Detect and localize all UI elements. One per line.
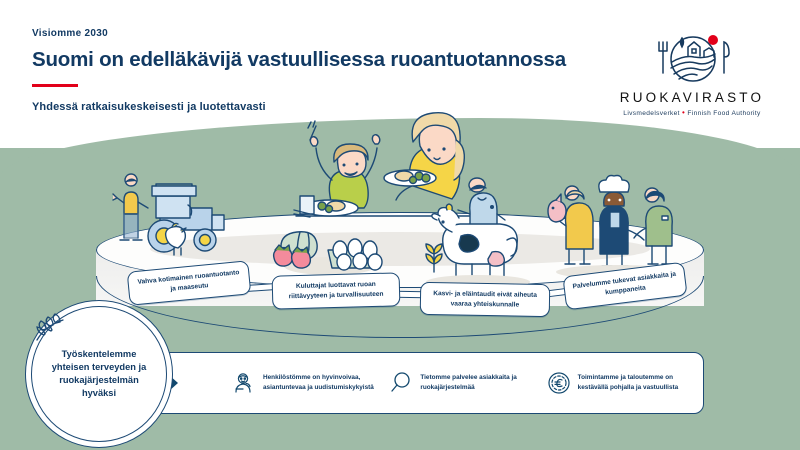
logo-wordmark: RUOKAVIRASTO bbox=[612, 90, 772, 105]
bottom-item-1[interactable]: Henkilöstömme on hyvinvoivaa, asiantunte… bbox=[232, 371, 389, 395]
logo-subtitle: Livsmedelsverket • Finnish Food Authorit… bbox=[612, 108, 772, 117]
bottom-items-row: Henkilöstömme on hyvinvoivaa, asiantunte… bbox=[120, 352, 704, 414]
platform-shadow bbox=[150, 232, 650, 266]
callout-label-1: Vahva kotimainen ruoantuotanto ja maaseu… bbox=[135, 268, 242, 297]
bottom-item-2[interactable]: Tietomme palvelee asiakkaita ja ruokajär… bbox=[389, 371, 546, 395]
wheat-icon bbox=[25, 300, 77, 344]
logo-separator-dot: • bbox=[682, 108, 685, 117]
eyebrow-label: Visiomme 2030 bbox=[32, 28, 572, 39]
page-title: Suomi on edelläkävijä vastuullisessa ruo… bbox=[32, 47, 572, 72]
callout-box-3[interactable]: Kasvi- ja eläintaudit eivät aiheuta vaar… bbox=[420, 282, 551, 317]
mission-circle-label: Työskentelemme yhteisen terveyden ja ruo… bbox=[32, 348, 166, 401]
bottom-item-label-3: Toimintamme ja taloutemme on kestävällä … bbox=[578, 373, 704, 392]
title-divider bbox=[32, 84, 78, 87]
callout-label-2: Kuluttajat luottavat ruoan riittävyyteen… bbox=[280, 280, 392, 302]
person-icon bbox=[232, 371, 256, 395]
callout-box-2[interactable]: Kuluttajat luottavat ruoan riittävyyteen… bbox=[272, 272, 401, 309]
logo-subtitle-right: Finnish Food Authority bbox=[687, 110, 760, 117]
bottom-item-3[interactable]: Toimintamme ja taloutemme on kestävällä … bbox=[547, 371, 704, 395]
callout-label-4: Palvelumme tukevat asiakkaita ja kumppan… bbox=[571, 270, 679, 302]
euro-icon bbox=[547, 371, 571, 395]
bottom-item-label-1: Henkilöstömme on hyvinvoivaa, asiantunte… bbox=[263, 373, 389, 392]
bottom-item-label-2: Tietomme palvelee asiakkaita ja ruokajär… bbox=[420, 373, 546, 392]
magnifier-icon bbox=[389, 371, 413, 395]
callout-label-3: Kasvi- ja eläintaudit eivät aiheuta vaar… bbox=[428, 289, 542, 310]
infographic-canvas: Visiomme 2030 Suomi on edelläkävijä vast… bbox=[0, 0, 800, 450]
header-block: Visiomme 2030 Suomi on edelläkävijä vast… bbox=[32, 28, 572, 113]
brand-logo: RUOKAVIRASTO Livsmedelsverket • Finnish … bbox=[612, 26, 772, 117]
page-subtitle: Yhdessä ratkaisukeskeisesti ja luotettav… bbox=[32, 101, 572, 113]
logo-subtitle-left: Livsmedelsverket bbox=[623, 110, 680, 117]
logo-mark bbox=[612, 26, 772, 88]
